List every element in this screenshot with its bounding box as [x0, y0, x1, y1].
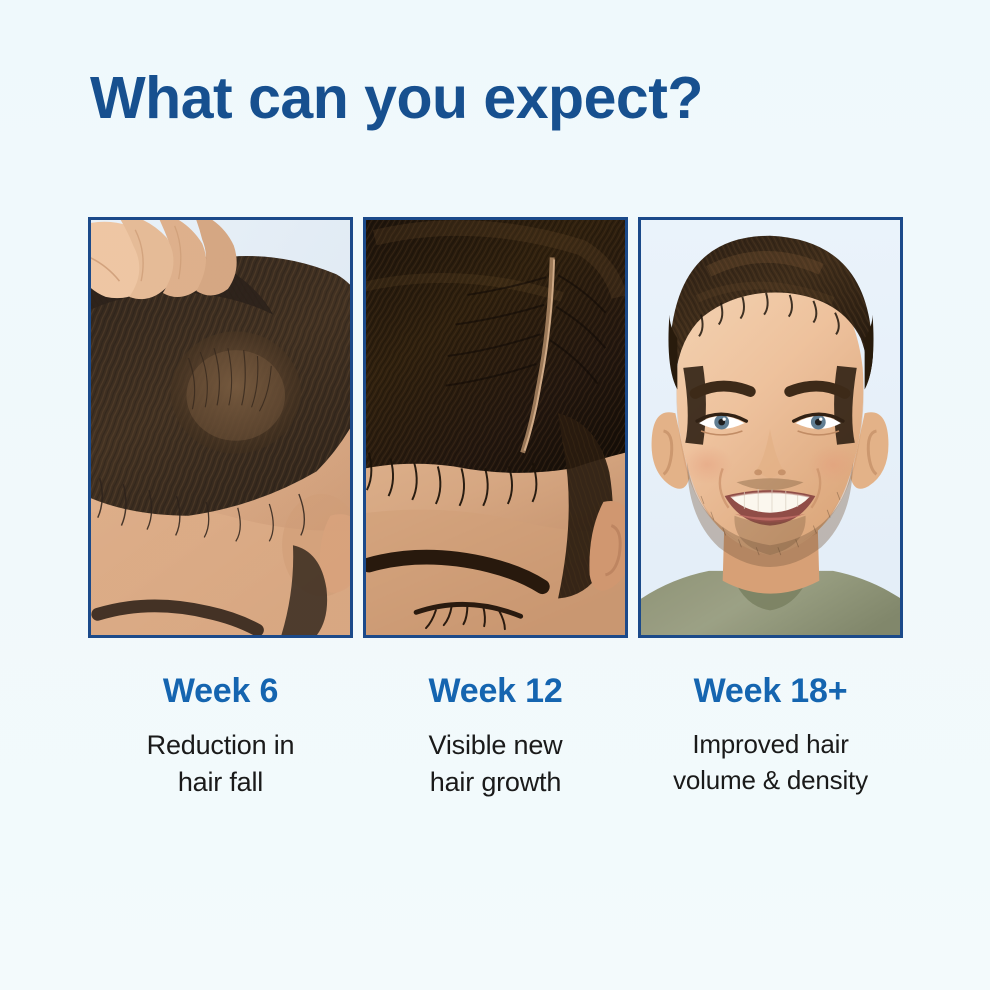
week-description: Visible new hair growth	[429, 727, 563, 802]
week-6-scalp-photo	[91, 220, 350, 635]
photo-frame-week-18	[638, 217, 903, 638]
week-12-scalp-photo	[366, 220, 625, 635]
week-label: Week 6	[163, 674, 278, 708]
week-18-portrait-photo	[641, 220, 900, 635]
card-week-6: Week 6 Reduction in hair fall	[88, 217, 353, 802]
photo-frame-week-6	[88, 217, 353, 638]
week-description: Reduction in hair fall	[147, 727, 295, 802]
week-label: Week 12	[428, 674, 562, 708]
photo-frame-week-12	[363, 217, 628, 638]
poster-root: What can you expect?	[0, 0, 990, 990]
page-title: What can you expect?	[90, 68, 703, 130]
timeline-cards: Week 6 Reduction in hair fall	[88, 217, 903, 802]
card-week-18: Week 18+ Improved hair volume & density	[638, 217, 903, 802]
week-label: Week 18+	[694, 674, 848, 708]
card-week-12: Week 12 Visible new hair growth	[363, 217, 628, 802]
week-description: Improved hair volume & density	[673, 727, 868, 799]
